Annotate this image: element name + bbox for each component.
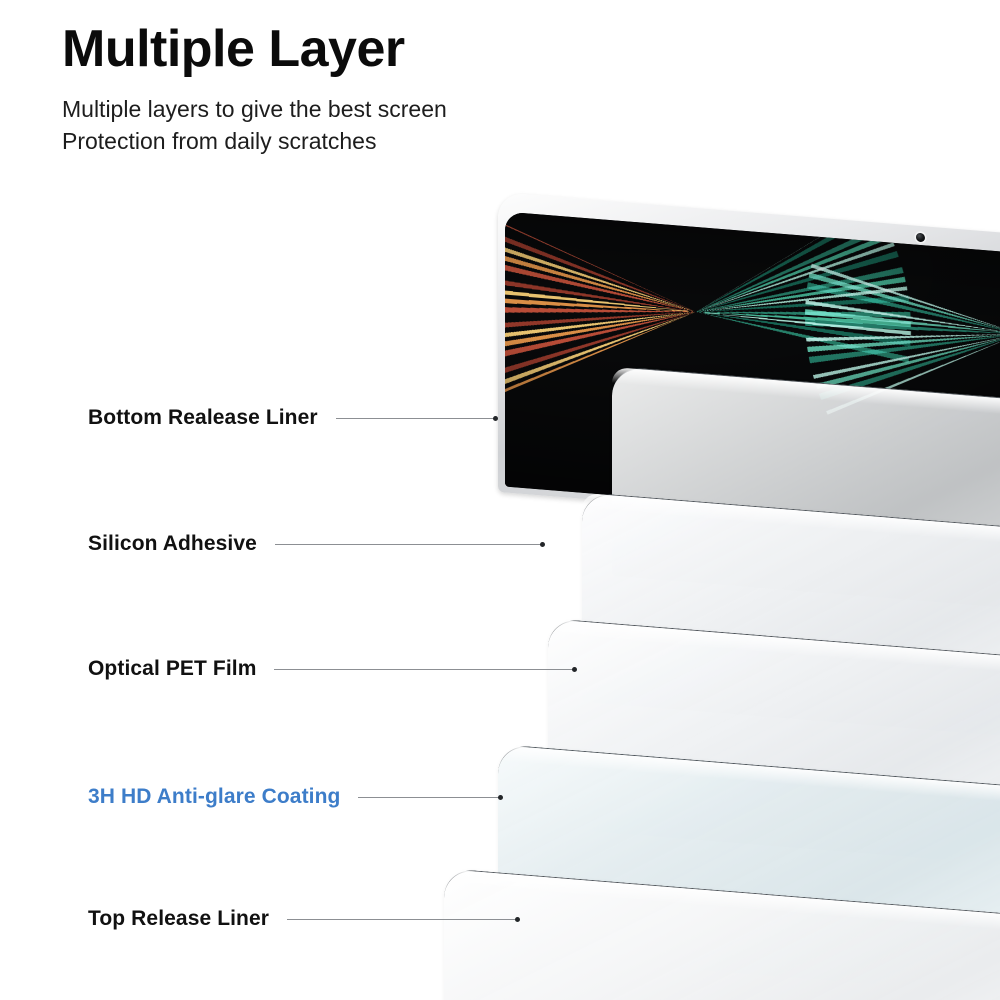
- film-layer-silicon-adhesive: [582, 492, 1000, 702]
- callout-optical-pet-film: Optical PET Film: [88, 657, 574, 681]
- leader-dot-icon: [572, 667, 577, 672]
- tablet-screen: [505, 212, 1000, 531]
- film-layer-anti-glare-coating: [498, 744, 1000, 954]
- screen-vignette: [505, 212, 1000, 531]
- wallpaper-fan-warm-left: [505, 212, 911, 531]
- film-sheet: [444, 868, 1000, 1000]
- product-infographic: Multiple Layer Multiple layers to give t…: [0, 0, 1000, 1000]
- film-sheet: [612, 366, 1000, 610]
- callout-label: Top Release Liner: [88, 907, 269, 931]
- leader-line: [358, 797, 500, 798]
- callout-silicon-adhesive: Silicon Adhesive: [88, 532, 543, 556]
- tablet-bezel: [505, 212, 1000, 531]
- page-subtitle: Multiple layers to give the best screen …: [62, 93, 622, 158]
- leader-line: [336, 418, 496, 419]
- callout-label: Bottom Realease Liner: [88, 406, 318, 430]
- front-camera-icon: [916, 233, 925, 243]
- leader-dot-icon: [540, 542, 545, 547]
- leader-line: [287, 919, 517, 920]
- tablet-device: [498, 192, 1000, 537]
- wallpaper-fan-teal-right: [805, 212, 1000, 531]
- subtitle-line-2: Protection from daily scratches: [62, 125, 622, 158]
- tablet-frame: [498, 192, 1000, 537]
- leader-dot-icon: [493, 416, 498, 421]
- page-title: Multiple Layer: [62, 22, 622, 77]
- leader-dot-icon: [515, 917, 520, 922]
- leader-line: [275, 544, 543, 545]
- film-sheet: [548, 618, 1000, 867]
- header-block: Multiple Layer Multiple layers to give t…: [62, 22, 622, 158]
- film-layer-bottom-release-liner: [612, 366, 1000, 576]
- wallpaper-fan-teal-left: [505, 212, 911, 531]
- callout-top-release-liner: Top Release Liner: [88, 907, 517, 931]
- callout-label: Silicon Adhesive: [88, 532, 257, 556]
- callout-bottom-release-liner: Bottom Realease Liner: [88, 406, 496, 430]
- leader-line: [274, 669, 574, 670]
- film-sheet: [498, 744, 1000, 997]
- leader-dot-icon: [498, 795, 503, 800]
- callout-anti-glare-coating: 3H HD Anti-glare Coating: [88, 785, 500, 809]
- wallpaper-fan-warm-right: [805, 212, 1000, 531]
- subtitle-line-1: Multiple layers to give the best screen: [62, 93, 622, 126]
- film-layer-optical-pet-film: [548, 618, 1000, 828]
- callout-label: 3H HD Anti-glare Coating: [88, 785, 340, 809]
- callout-label: Optical PET Film: [88, 657, 256, 681]
- film-sheet: [582, 492, 1000, 738]
- film-layer-top-release-liner: [444, 868, 1000, 1000]
